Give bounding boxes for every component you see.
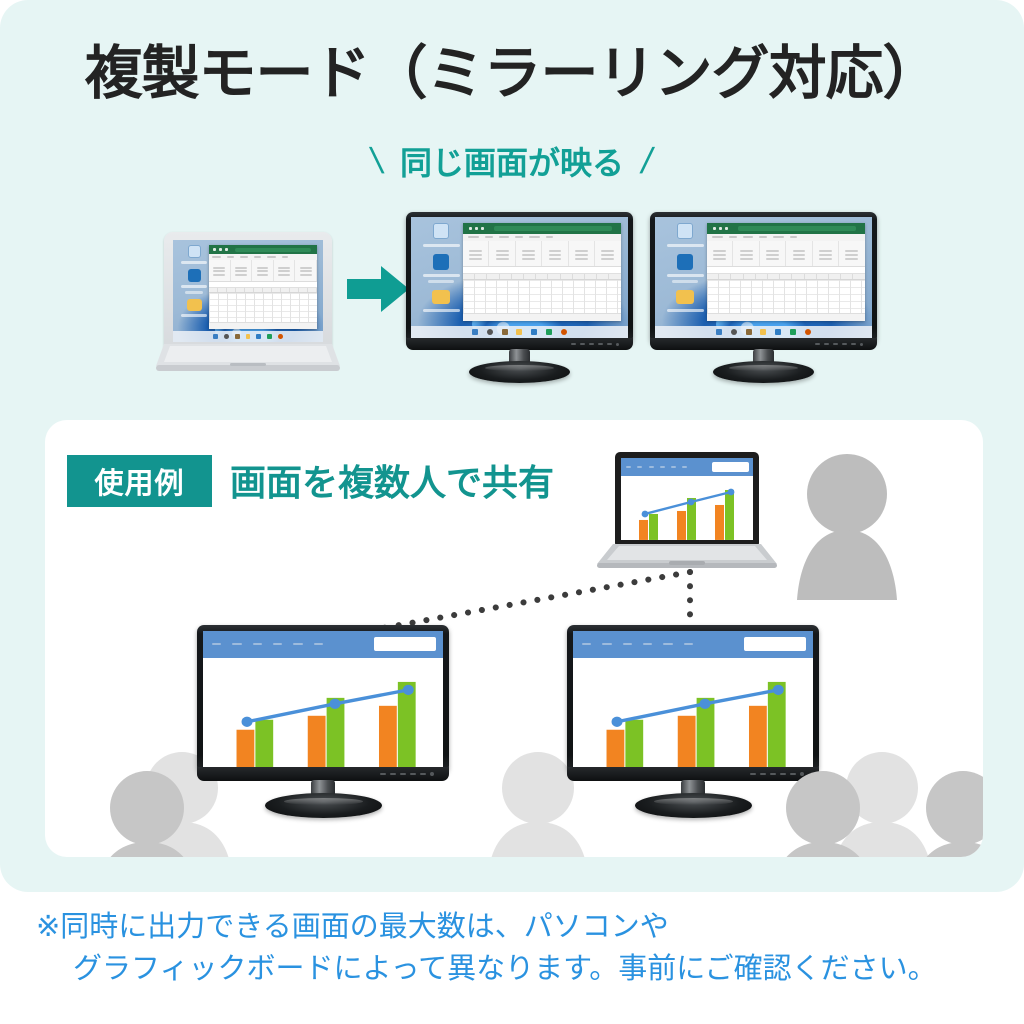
windows-taskbar[interactable] bbox=[655, 326, 872, 339]
browser-window[interactable] bbox=[203, 631, 444, 768]
quick-access-toolbar[interactable] bbox=[713, 227, 728, 230]
laptop-base bbox=[597, 544, 777, 574]
desktop-icons bbox=[661, 223, 709, 318]
excel-ribbon[interactable] bbox=[463, 241, 621, 267]
excel-ribbon-tabs[interactable] bbox=[707, 234, 865, 241]
bar-orange-1 bbox=[236, 730, 254, 768]
browser-window[interactable] bbox=[573, 631, 814, 768]
excel-search-box[interactable] bbox=[494, 226, 612, 231]
app-icon[interactable] bbox=[178, 269, 211, 294]
bar-orange-3 bbox=[749, 706, 767, 768]
excel-status-bar bbox=[209, 322, 317, 329]
browser-address-bar[interactable] bbox=[374, 637, 437, 651]
person-icon bbox=[795, 452, 900, 600]
recycle-bin-icon[interactable] bbox=[178, 245, 211, 264]
bar-orange-2 bbox=[677, 511, 686, 540]
windows-taskbar[interactable] bbox=[411, 326, 628, 339]
bar-orange-2 bbox=[307, 716, 325, 768]
page-title: 複製モード（ミラーリング対応） bbox=[0, 26, 1024, 110]
recycle-bin-icon[interactable] bbox=[417, 223, 465, 247]
trend-point-1 bbox=[611, 717, 622, 727]
excel-ribbon[interactable] bbox=[707, 241, 865, 267]
taskbar-icons[interactable] bbox=[714, 329, 814, 335]
trend-point-3 bbox=[402, 685, 413, 695]
monitor-chin bbox=[197, 767, 449, 781]
bar-green-1 bbox=[255, 720, 273, 768]
taskbar-icons[interactable] bbox=[470, 329, 570, 335]
subtitle-text: 同じ画面が映る bbox=[400, 138, 624, 184]
person-icon bbox=[767, 770, 879, 857]
excel-window[interactable] bbox=[707, 223, 865, 321]
laptop-screen bbox=[621, 458, 753, 540]
browser-tabs[interactable] bbox=[626, 466, 687, 468]
trend-point-1 bbox=[642, 511, 649, 518]
excel-formula-bar[interactable] bbox=[707, 267, 865, 274]
browser-address-bar[interactable] bbox=[712, 462, 749, 471]
excel-window[interactable] bbox=[463, 223, 621, 321]
excel-search-box[interactable] bbox=[235, 248, 311, 252]
trend-point-3 bbox=[728, 489, 735, 496]
excel-title-bar bbox=[707, 223, 865, 234]
person-icon bbox=[907, 770, 983, 857]
usage-badge: 使用例 bbox=[67, 455, 212, 507]
source-laptop bbox=[156, 232, 340, 374]
subtitle-row: \ 同じ画面が映る / bbox=[0, 138, 1024, 184]
trend-point-1 bbox=[241, 717, 252, 727]
trend-point-2 bbox=[699, 699, 710, 709]
output-monitor-1 bbox=[406, 212, 633, 378]
excel-status-bar bbox=[463, 313, 621, 321]
desktop-icons bbox=[178, 245, 211, 322]
monitor-base bbox=[635, 793, 752, 818]
trend-point-2 bbox=[688, 499, 695, 506]
folder-icon[interactable] bbox=[661, 290, 709, 312]
folder-icon[interactable] bbox=[417, 290, 465, 312]
bar-green-1 bbox=[649, 514, 658, 540]
monitor-screen bbox=[655, 217, 872, 339]
arrow-right-icon bbox=[347, 262, 409, 316]
presenter-laptop bbox=[597, 452, 777, 574]
output-monitor-2 bbox=[650, 212, 877, 378]
windows-taskbar[interactable] bbox=[173, 331, 323, 342]
quick-access-toolbar[interactable] bbox=[469, 227, 484, 230]
excel-search-box[interactable] bbox=[738, 226, 856, 231]
monitor-bezel bbox=[197, 625, 449, 773]
bar-green-3 bbox=[725, 490, 734, 540]
monitor-bezel bbox=[567, 625, 819, 773]
laptop-screen bbox=[173, 240, 323, 342]
bar-orange-3 bbox=[379, 706, 397, 768]
monitor-screen bbox=[573, 631, 814, 768]
excel-formula-bar[interactable] bbox=[463, 267, 621, 274]
excel-ribbon-tabs[interactable] bbox=[463, 234, 621, 241]
excel-title-bar bbox=[209, 245, 317, 254]
bar-green-1 bbox=[625, 720, 643, 768]
windows-desktop bbox=[173, 240, 323, 342]
bar-orange-1 bbox=[606, 730, 624, 768]
app-icon[interactable] bbox=[661, 254, 709, 284]
slash-left-decoration: \ bbox=[368, 140, 387, 182]
bar-line-chart bbox=[203, 658, 444, 768]
windows-desktop bbox=[411, 217, 628, 339]
browser-toolbar[interactable] bbox=[203, 631, 444, 658]
bar-orange-2 bbox=[677, 716, 695, 768]
browser-toolbar[interactable] bbox=[621, 458, 753, 476]
browser-toolbar[interactable] bbox=[573, 631, 814, 658]
app-icon[interactable] bbox=[417, 254, 465, 284]
browser-address-bar[interactable] bbox=[744, 637, 807, 651]
usage-heading: 画面を複数人で共有 bbox=[230, 454, 554, 506]
monitor-bezel bbox=[406, 212, 633, 344]
usage-card: 使用例 画面を複数人で共有 bbox=[45, 420, 983, 857]
browser-tabs[interactable] bbox=[212, 643, 323, 645]
monitor-screen bbox=[203, 631, 444, 768]
quick-access-toolbar[interactable] bbox=[213, 248, 228, 251]
bar-line-chart bbox=[573, 658, 814, 768]
excel-window[interactable] bbox=[209, 245, 317, 329]
monitor-screen bbox=[411, 217, 628, 339]
slash-right-decoration: / bbox=[638, 140, 657, 182]
browser-tabs[interactable] bbox=[582, 643, 693, 645]
excel-title-bar bbox=[463, 223, 621, 234]
monitor-base bbox=[713, 361, 814, 383]
bar-orange-3 bbox=[715, 505, 724, 540]
excel-status-bar bbox=[707, 313, 865, 321]
screenshot-root: 複製モード（ミラーリング対応） \ 同じ画面が映る / bbox=[0, 0, 1024, 1024]
monitor-base bbox=[265, 793, 382, 818]
recycle-bin-icon[interactable] bbox=[661, 223, 709, 247]
bar-line-chart bbox=[621, 476, 753, 540]
folder-icon[interactable] bbox=[178, 299, 211, 317]
trend-point-3 bbox=[772, 685, 783, 695]
excel-ribbon[interactable] bbox=[209, 260, 317, 282]
shared-monitor-1 bbox=[197, 625, 449, 810]
windows-desktop bbox=[655, 217, 872, 339]
footer-note: ※同時に出力できる画面の最大数は、パソコンや グラフィックボードによって異なりま… bbox=[36, 906, 996, 990]
browser-window[interactable] bbox=[621, 458, 753, 540]
monitor-bezel bbox=[650, 212, 877, 344]
bar-orange-1 bbox=[639, 520, 648, 540]
desktop-icons bbox=[417, 223, 465, 318]
trend-point-2 bbox=[329, 699, 340, 709]
laptop-base bbox=[156, 344, 340, 374]
taskbar-icons[interactable] bbox=[214, 334, 283, 339]
person-icon bbox=[91, 770, 203, 857]
monitor-base bbox=[469, 361, 570, 383]
